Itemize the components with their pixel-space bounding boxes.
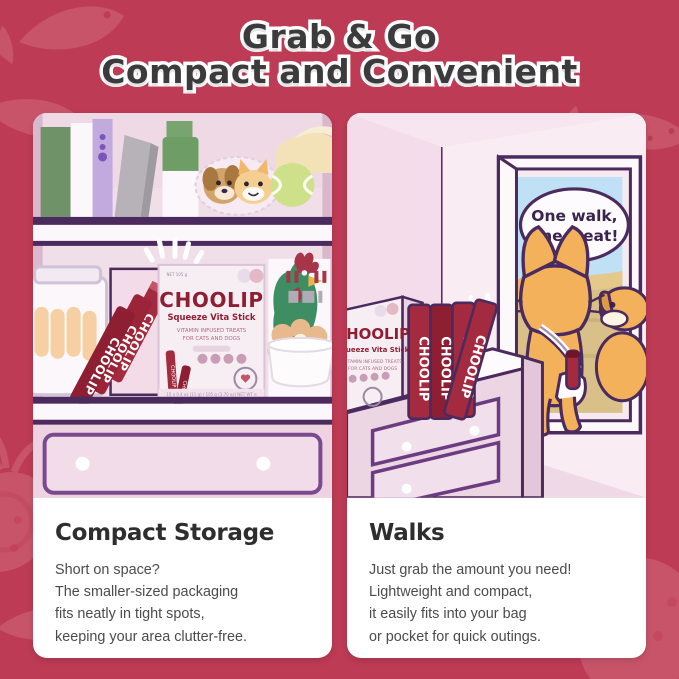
svg-text:15 x 0.4 oz (11 g) / 105 g (3.: 15 x 0.4 oz (11 g) / 105 g (3.70 oz) NET…: [166, 392, 257, 397]
svg-text:CHOOLIP: CHOOLIP: [159, 288, 263, 312]
photo-frame-pet: [195, 157, 279, 215]
illustration-shelf-scene: CHOOLIP CHOOLIP CHOOLIP: [33, 113, 332, 498]
svg-text:FOR CATS AND DOGS: FOR CATS AND DOGS: [348, 366, 397, 372]
entryway-scene-svg: One walk, one treat!: [347, 113, 646, 498]
card-walks[interactable]: One walk, one treat!: [347, 113, 646, 658]
svg-text:VITAMIN INFUSED TREATS: VITAMIN INFUSED TREATS: [347, 359, 402, 365]
svg-text:FOR CATS AND DOGS: FOR CATS AND DOGS: [183, 336, 241, 342]
svg-text:Squeeze Vita Stick: Squeeze Vita Stick: [347, 346, 410, 354]
card-compact-storage[interactable]: CHOOLIP CHOOLIP CHOOLIP: [33, 113, 332, 658]
page-title: Grab & Go Compact and Convenient: [0, 20, 679, 90]
bowl-of-treats: [267, 319, 332, 386]
illustration-entryway-scene: One walk, one treat!: [347, 113, 646, 498]
caption-walks: Walks Just grab the amount you need! Lig…: [347, 498, 646, 658]
feature-cards: CHOOLIP CHOOLIP CHOOLIP: [33, 113, 646, 658]
shelf-scene-svg: CHOOLIP CHOOLIP CHOOLIP: [33, 113, 332, 498]
svg-text:CHOOLIP: CHOOLIP: [347, 325, 410, 343]
svg-text:VITAMIN INFUSED TREATS: VITAMIN INFUSED TREATS: [177, 328, 247, 334]
card-body: Short on space? The smaller-sized packag…: [55, 559, 312, 648]
heading-line-2: Compact and Convenient: [0, 55, 679, 90]
choolip-product-box: NET 105 g CHOOLIP Squeeze Vita Stick VIT…: [159, 265, 265, 410]
drawer: [33, 425, 332, 498]
card-title: Walks: [369, 520, 626, 546]
heading-line-1: Grab & Go: [0, 20, 679, 55]
card-title: Compact Storage: [55, 520, 312, 546]
svg-text:CHOOLIP: CHOOLIP: [416, 336, 431, 401]
svg-text:One walk,: One walk,: [531, 207, 617, 225]
svg-text:Squeeze Vita Stick: Squeeze Vita Stick: [167, 312, 255, 322]
card-body: Just grab the amount you need! Lightweig…: [369, 559, 626, 648]
caption-compact-storage: Compact Storage Short on space? The smal…: [33, 498, 332, 658]
dog-peeking: [596, 288, 646, 401]
svg-text:NET 105 g: NET 105 g: [167, 272, 188, 277]
